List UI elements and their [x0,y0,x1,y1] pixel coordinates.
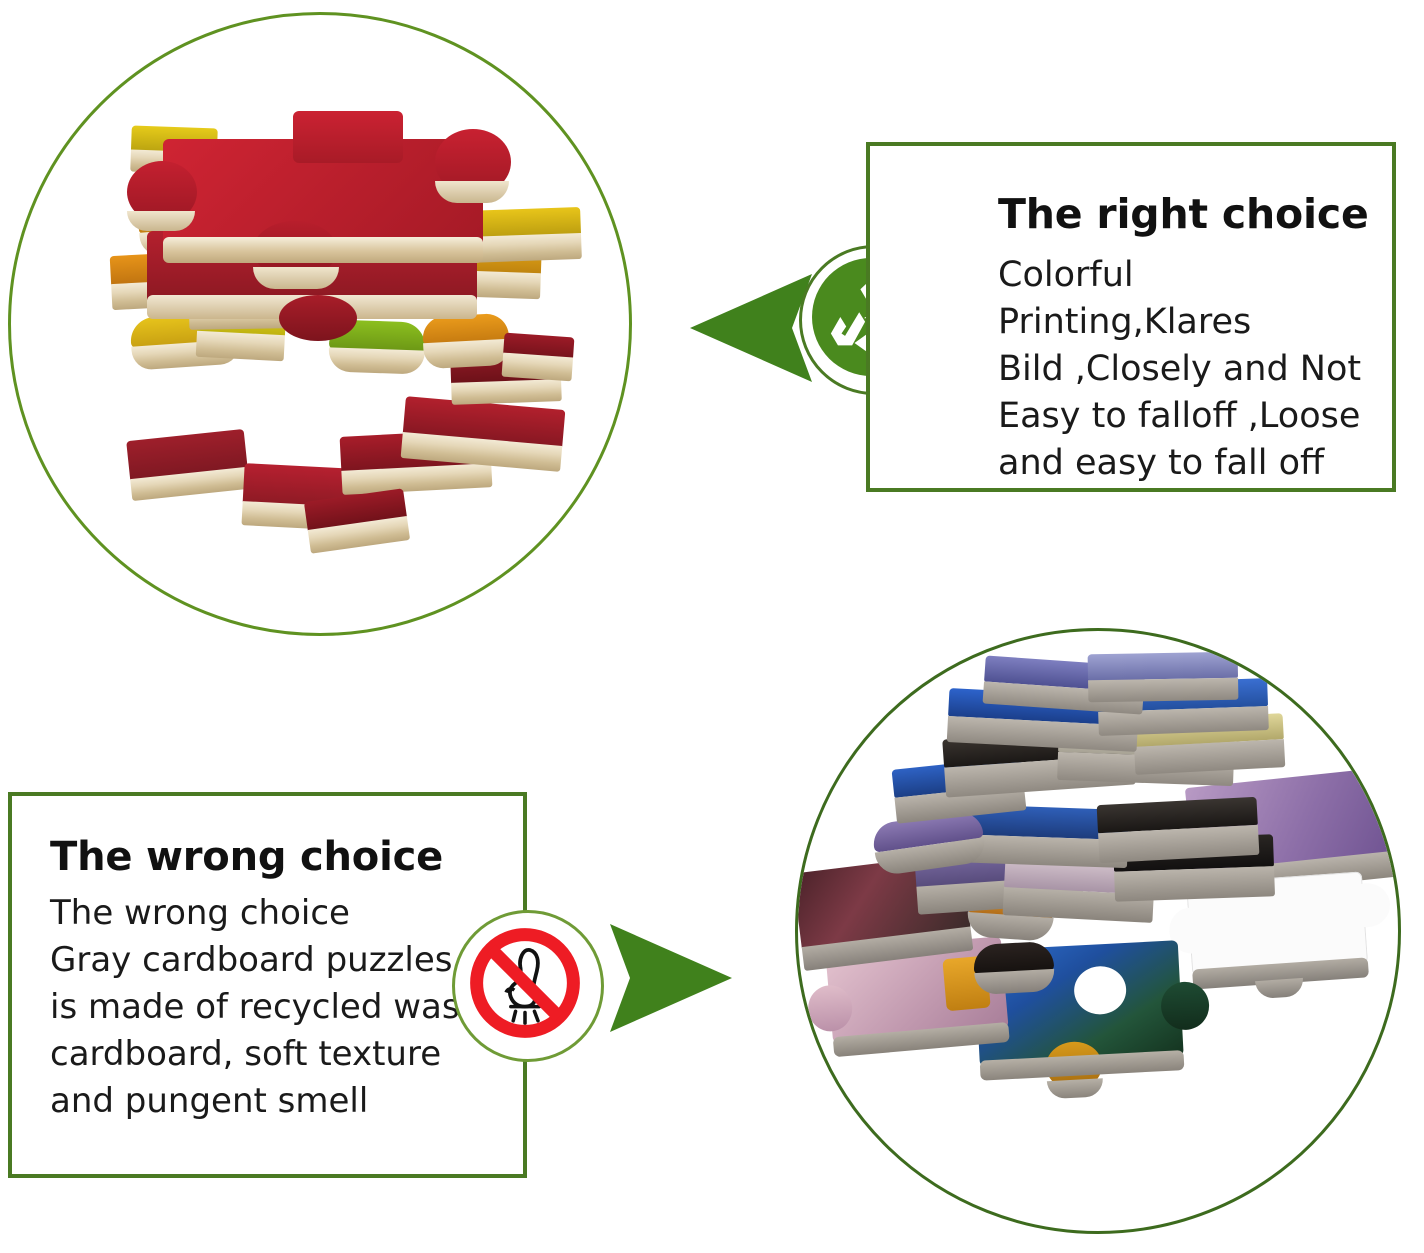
cardboard-puzzle-photo-circle [795,628,1401,1234]
right-choice-content: The right choice Colorful Printing,Klare… [998,190,1374,487]
wrong-choice-box: The wrong choice The wrong choice Gray c… [8,792,527,1178]
wrong-choice-content: The wrong choice The wrong choice Gray c… [50,834,509,1125]
right-choice-box: The right choice Colorful Printing,Klare… [866,142,1396,492]
cardboard-puzzle-illustration [798,631,1398,1231]
wrong-choice-body: The wrong choice Gray cardboard puzzles … [50,890,509,1125]
wrong-choice-title: The wrong choice [50,834,509,880]
arrow-right-icon [608,922,734,1034]
puzzle-chip [126,429,250,501]
puzzle-chip [502,333,575,382]
wooden-puzzle-illustration [11,15,629,633]
right-choice-title: The right choice [998,190,1374,238]
no-smell-icon [466,924,584,1042]
puzzle-chip [1088,652,1239,703]
right-choice-body: Colorful Printing,Klares Bild ,Closely a… [998,252,1374,487]
wooden-puzzle-photo-circle [8,12,632,636]
arrow-left-icon [688,272,814,384]
puzzle-piece-top [103,111,533,301]
puzzle-chip [973,941,1056,995]
puzzle-chip [1097,797,1260,863]
